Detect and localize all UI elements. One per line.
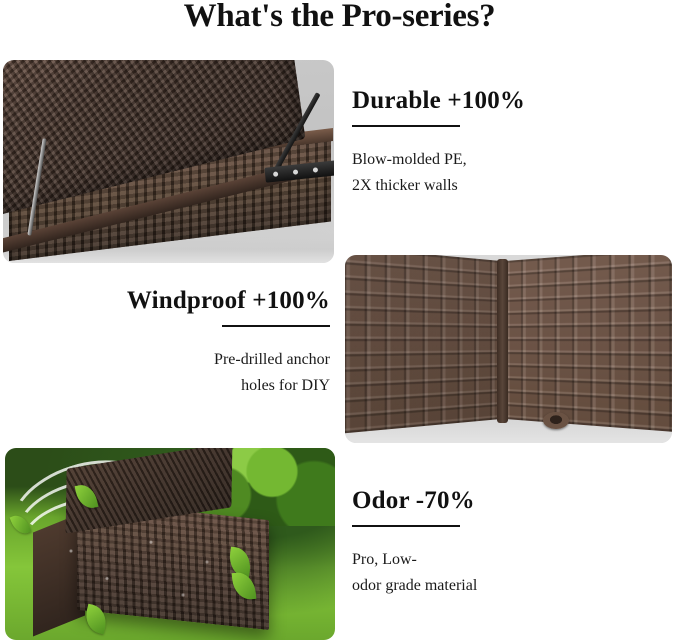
feature-windproof-body: Pre-drilled anchor holes for DIY bbox=[40, 347, 330, 399]
feature-windproof: Windproof +100% Pre-drilled anchor holes… bbox=[40, 286, 330, 399]
feature-durable-body: Blow-molded PE, 2X thicker walls bbox=[352, 147, 652, 199]
product-image-lawn-box bbox=[5, 448, 335, 640]
product-feature-page: What's the Pro-series? Durable +100% Blo… bbox=[0, 0, 679, 644]
product-image-open-box bbox=[3, 60, 334, 263]
product-image-wicker-corner bbox=[345, 255, 672, 443]
feature-odor: Odor -70% Pro, Low- odor grade material bbox=[352, 486, 652, 599]
anchor-hole-icon bbox=[543, 412, 569, 429]
feature-durable: Durable +100% Blow-molded PE, 2X thicker… bbox=[352, 86, 652, 199]
page-title: What's the Pro-series? bbox=[0, 0, 679, 38]
feature-windproof-heading: Windproof +100% bbox=[40, 286, 330, 316]
feature-odor-body: Pro, Low- odor grade material bbox=[352, 547, 652, 599]
feature-odor-rule bbox=[352, 525, 460, 527]
feature-durable-heading: Durable +100% bbox=[352, 86, 652, 116]
feature-durable-rule bbox=[352, 125, 460, 127]
wicker-panel-left bbox=[345, 255, 501, 433]
feature-odor-heading: Odor -70% bbox=[352, 486, 652, 516]
wicker-panel-right bbox=[505, 255, 672, 432]
feature-windproof-rule bbox=[222, 325, 330, 327]
corner-edge bbox=[497, 259, 508, 423]
